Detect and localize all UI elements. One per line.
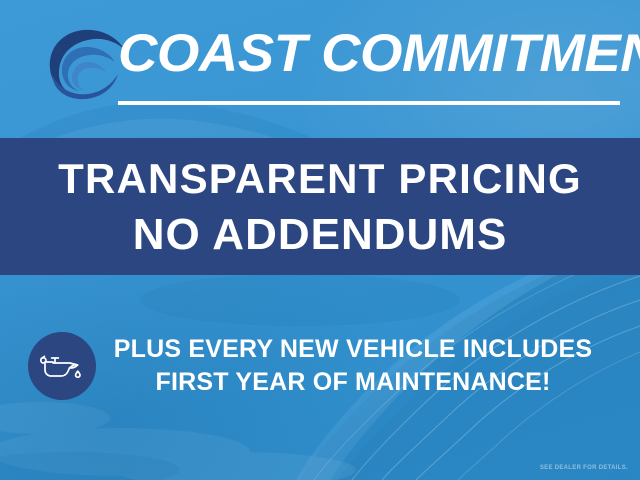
coast-commitment-banner: COAST COMMITMENT TRANSPARENT PRICING NO … xyxy=(0,0,640,480)
pricing-headline-primary: TRANSPARENT PRICING xyxy=(58,151,582,207)
brand-title: COAST COMMITMENT xyxy=(118,23,638,85)
promo-line-1: PLUS EVERY NEW VEHICLE INCLUDES xyxy=(112,333,594,366)
header-divider xyxy=(118,101,620,105)
promo-row: PLUS EVERY NEW VEHICLE INCLUDES FIRST YE… xyxy=(0,320,640,412)
pricing-band: TRANSPARENT PRICING NO ADDENDUMS xyxy=(0,138,640,275)
coast-wave-logo-icon xyxy=(34,22,126,100)
pricing-headline-secondary: NO ADDENDUMS xyxy=(133,207,508,263)
disclaimer-text: SEE DEALER FOR DETAILS. xyxy=(540,465,628,471)
promo-text-block: PLUS EVERY NEW VEHICLE INCLUDES FIRST YE… xyxy=(112,333,640,399)
header: COAST COMMITMENT xyxy=(0,0,640,138)
oil-can-icon xyxy=(28,332,96,400)
promo-line-2: FIRST YEAR OF MAINTENANCE! xyxy=(112,366,594,399)
